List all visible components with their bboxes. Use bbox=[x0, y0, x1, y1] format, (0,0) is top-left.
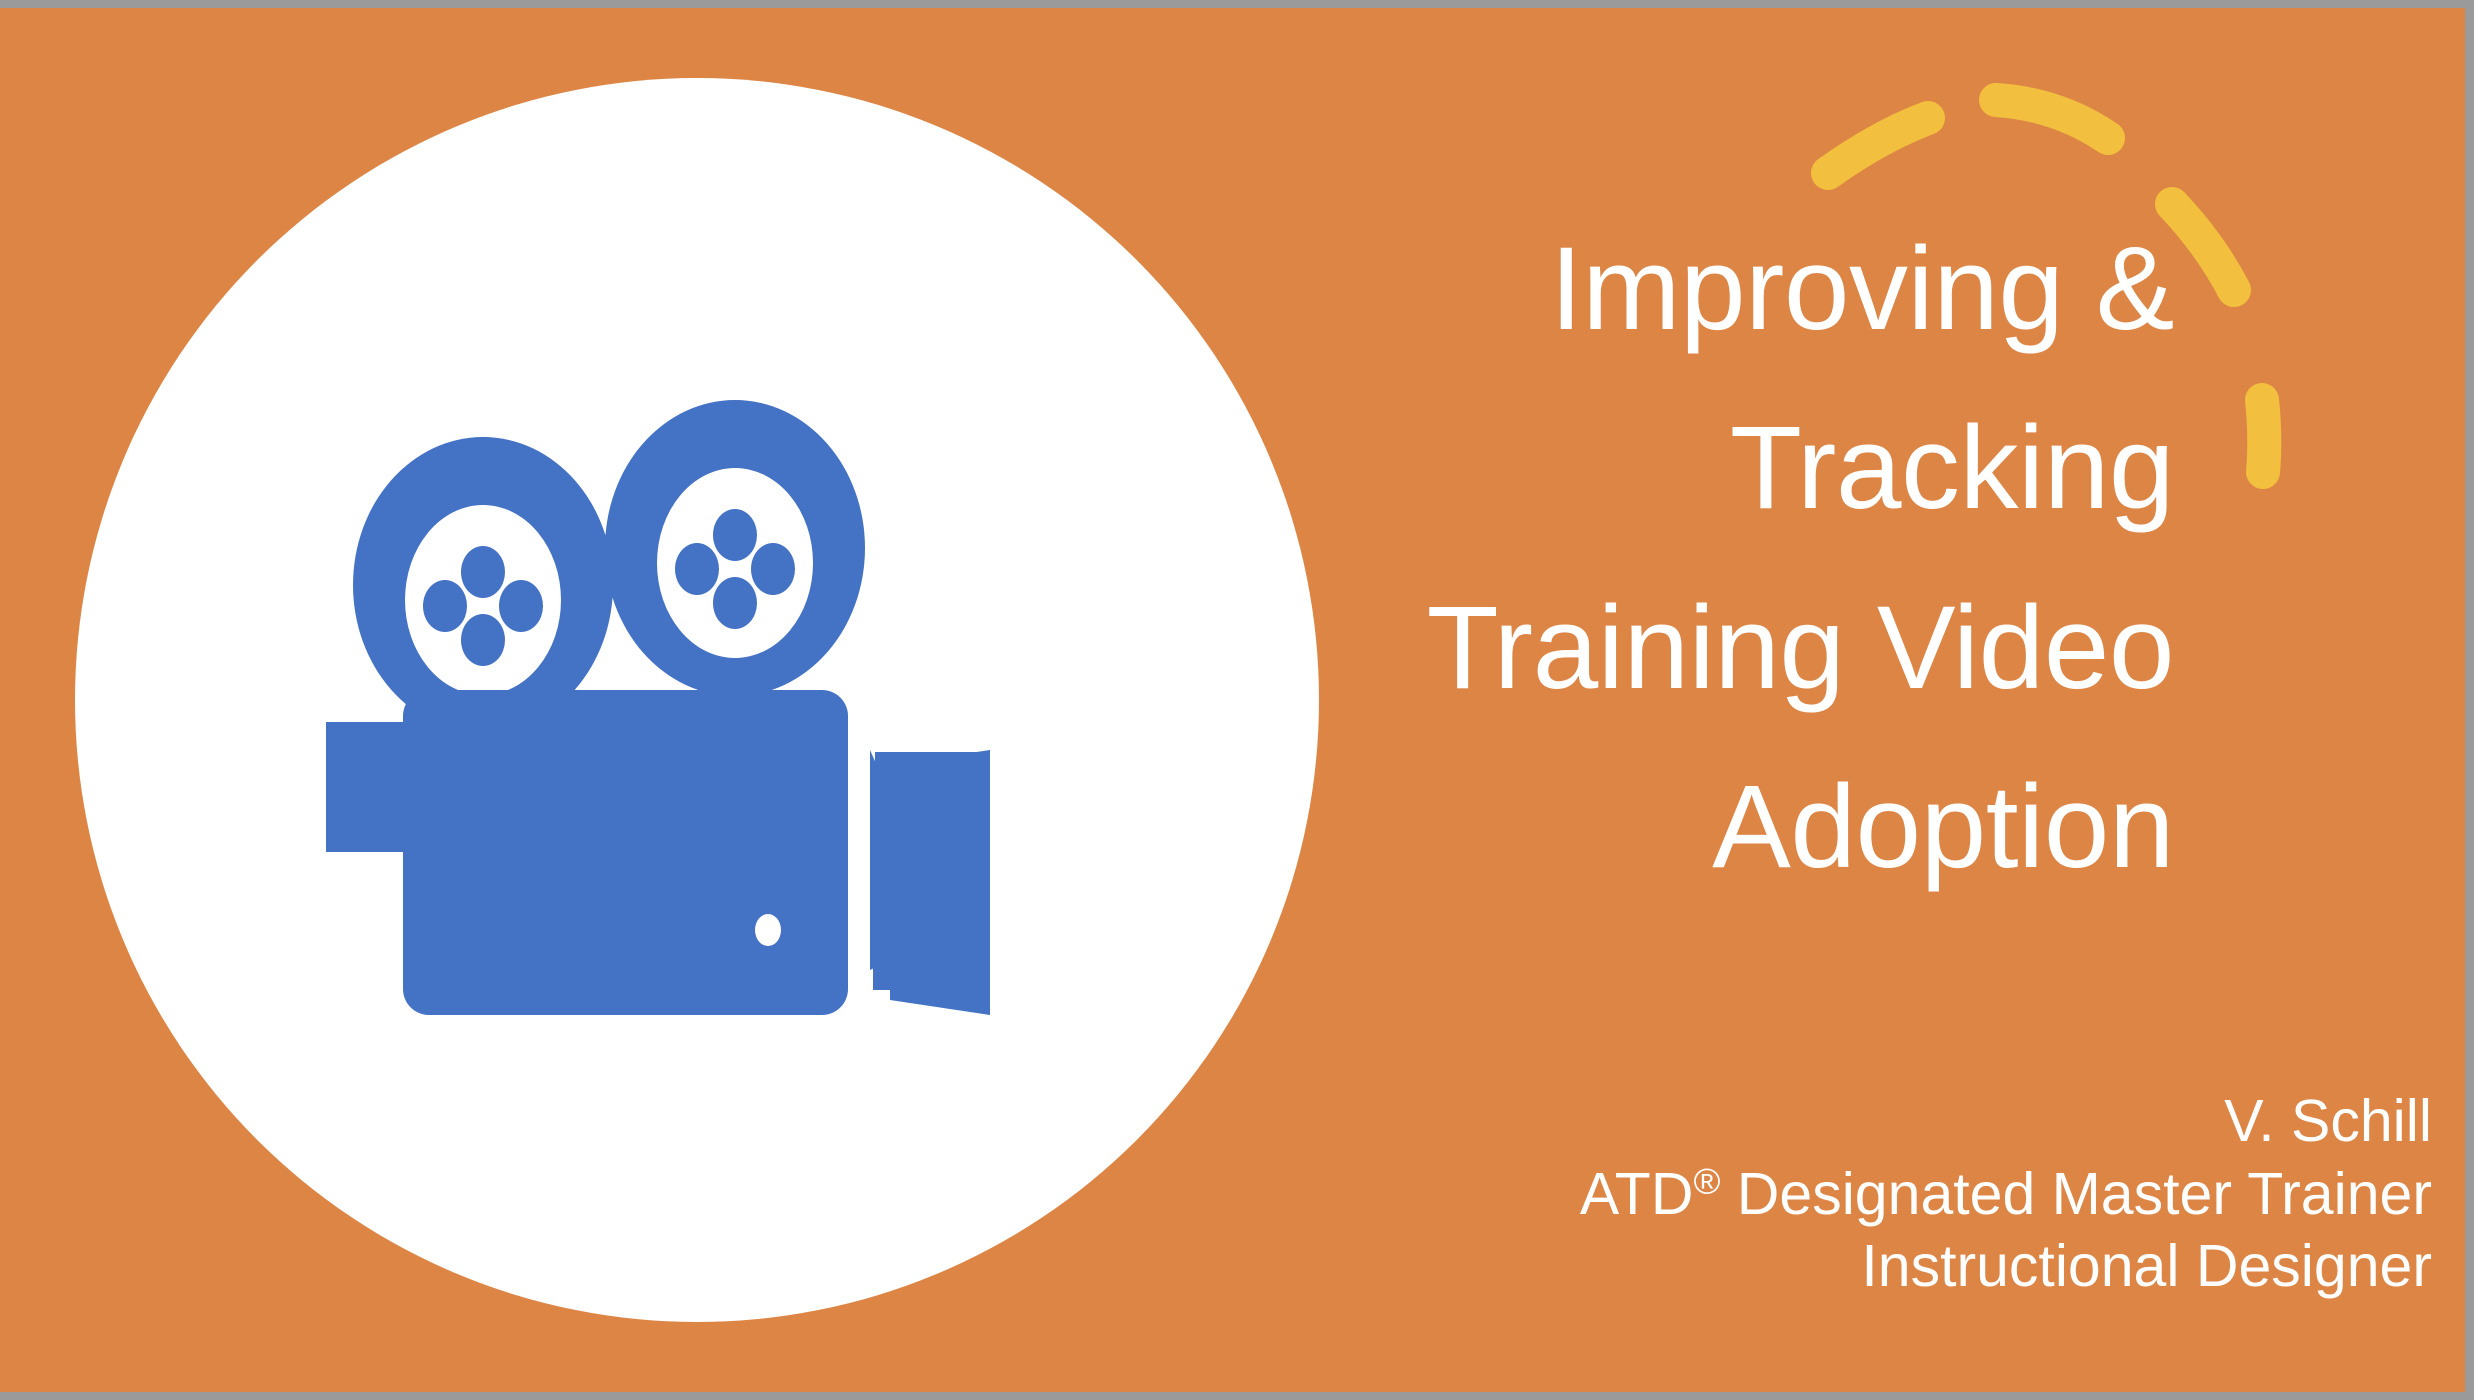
slide-border-bottom bbox=[0, 1392, 2474, 1400]
author-name: V. Schill bbox=[732, 1085, 2432, 1158]
author-role: Instructional Designer bbox=[732, 1230, 2432, 1303]
slide-border-top bbox=[0, 0, 2474, 8]
slide-border-right bbox=[2465, 0, 2474, 1400]
author-byline: V. Schill ATD® Designated Master Trainer… bbox=[732, 1085, 2432, 1303]
page-title: Improving & Tracking Training Video Adop… bbox=[674, 200, 2174, 917]
title-line-1: Improving & bbox=[674, 200, 2174, 379]
credential-prefix: ATD bbox=[1580, 1161, 1694, 1227]
title-line-4: Adoption bbox=[674, 738, 2174, 917]
title-line-2: Tracking bbox=[674, 379, 2174, 558]
presentation-slide: Improving & Tracking Training Video Adop… bbox=[0, 0, 2474, 1400]
registered-trademark-icon: ® bbox=[1693, 1160, 1720, 1201]
author-credential: ATD® Designated Master Trainer bbox=[732, 1158, 2432, 1231]
title-line-3: Training Video bbox=[674, 559, 2174, 738]
credential-suffix: Designated Master Trainer bbox=[1720, 1161, 2432, 1227]
